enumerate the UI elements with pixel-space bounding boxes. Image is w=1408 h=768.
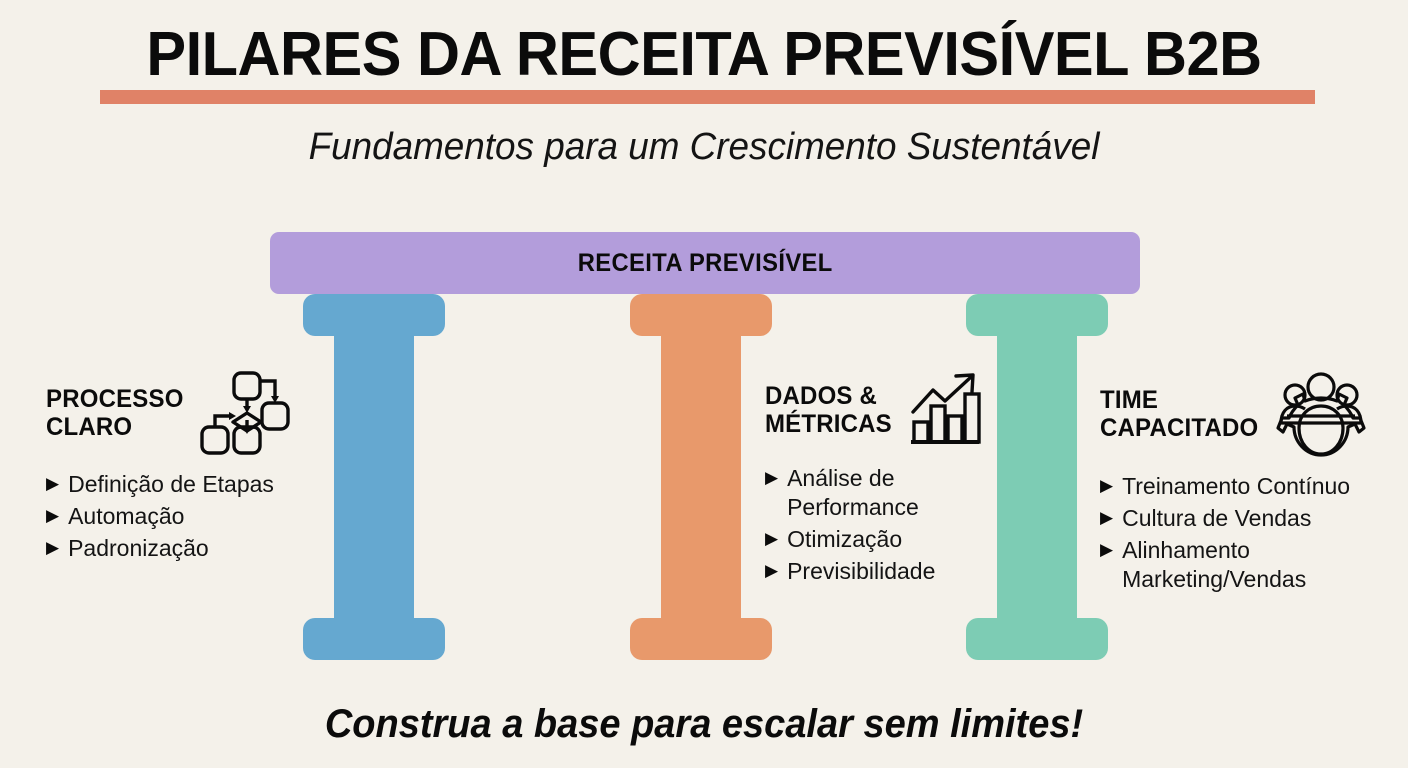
bullet-triangle-icon: ▶: [46, 534, 59, 562]
pillar-column-processo-claro: [303, 294, 445, 660]
beam-label: RECEITA PREVISÍVEL: [578, 249, 833, 278]
pillar-bullet-list: ▶ Definição de Etapas ▶ Automação ▶ Padr…: [46, 470, 298, 563]
pillar-block-time-capacitado: TIME CAPACITADO ▶ Treinamento Contín: [1100, 370, 1396, 597]
list-item: ▶ Análise de Performance: [765, 464, 955, 522]
pillar-shaft: [661, 312, 741, 642]
bullet-triangle-icon: ▶: [1100, 536, 1113, 564]
list-item: ▶ Previsibilidade: [765, 557, 955, 586]
page-title: PILARES DA RECEITA PREVISÍVEL B2B: [28, 22, 1380, 87]
bullet-text: Automação: [68, 502, 298, 531]
bullet-text: Treinamento Contínuo: [1122, 472, 1396, 501]
bullet-triangle-icon: ▶: [765, 525, 778, 553]
bullet-triangle-icon: ▶: [1100, 504, 1113, 532]
pillar-shaft: [334, 312, 414, 642]
pillar-heading-row: PROCESSO CLARO: [46, 370, 298, 456]
pillar-base: [966, 618, 1108, 660]
bullet-triangle-icon: ▶: [46, 502, 59, 530]
predictable-revenue-beam: RECEITA PREVISÍVEL: [270, 232, 1140, 294]
pillar-heading: PROCESSO CLARO: [46, 385, 184, 441]
list-item: ▶ Definição de Etapas: [46, 470, 298, 499]
bullet-text: Otimização: [787, 525, 955, 554]
pillar-heading: DADOS & MÉTRICAS: [765, 382, 892, 438]
bullet-text: Cultura de Vendas: [1122, 504, 1396, 533]
bullet-text: Análise de Performance: [787, 464, 955, 522]
bullet-triangle-icon: ▶: [765, 464, 778, 492]
list-item: ▶ Padronização: [46, 534, 298, 563]
bar-chart-growth-icon: [907, 370, 983, 450]
list-item: ▶ Automação: [46, 502, 298, 531]
pillar-base: [303, 618, 445, 660]
infographic-canvas: PILARES DA RECEITA PREVISÍVEL B2B Fundam…: [0, 0, 1408, 768]
pillar-heading-row: TIME CAPACITADO: [1100, 370, 1396, 458]
list-item: ▶ Cultura de Vendas: [1100, 504, 1396, 533]
pillar-bullet-list: ▶ Análise de Performance ▶ Otimização ▶ …: [765, 464, 955, 586]
team-gear-icon: [1275, 370, 1367, 458]
title-underline-rule: [100, 90, 1315, 104]
bullet-triangle-icon: ▶: [765, 557, 778, 585]
bullet-text: Previsibilidade: [787, 557, 955, 586]
list-item: ▶ Treinamento Contínuo: [1100, 472, 1396, 501]
pillar-shaft: [997, 312, 1077, 642]
pillar-heading: TIME CAPACITADO: [1100, 386, 1258, 442]
pillar-base: [630, 618, 772, 660]
list-item: ▶ Alinhamento Marketing/Vendas: [1100, 536, 1396, 594]
pillar-block-dados-metricas: DADOS & MÉTRICAS ▶ Análise de Performanc…: [765, 370, 955, 589]
pillar-bullet-list: ▶ Treinamento Contínuo ▶ Cultura de Vend…: [1100, 472, 1396, 594]
pillar-column-time-capacitado: [966, 294, 1108, 660]
bullet-text: Alinhamento Marketing/Vendas: [1122, 536, 1396, 594]
pillar-column-dados-metricas: [630, 294, 772, 660]
pillar-heading-row: DADOS & MÉTRICAS: [765, 370, 955, 450]
bullet-triangle-icon: ▶: [46, 470, 59, 498]
pillar-block-processo-claro: PROCESSO CLARO: [46, 370, 298, 566]
flowchart-icon: [199, 370, 291, 456]
bullet-triangle-icon: ▶: [1100, 472, 1113, 500]
footer-tagline: Construa a base para escalar sem limites…: [35, 702, 1373, 747]
list-item: ▶ Otimização: [765, 525, 955, 554]
bullet-text: Padronização: [68, 534, 298, 563]
bullet-text: Definição de Etapas: [68, 470, 298, 499]
page-subtitle: Fundamentos para um Crescimento Sustentá…: [21, 126, 1387, 169]
